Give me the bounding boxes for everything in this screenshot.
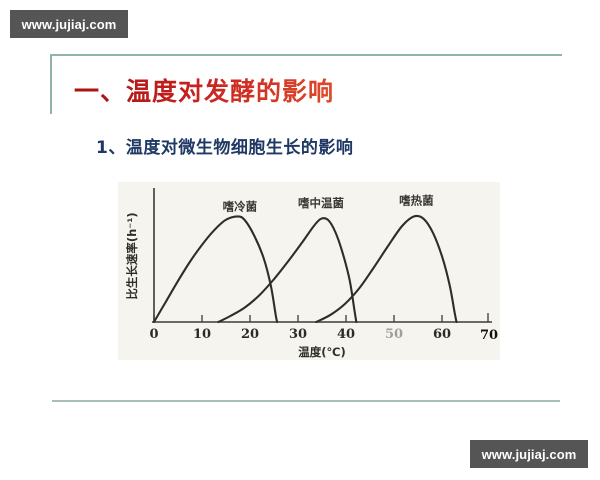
curve-thermophile: [316, 216, 456, 322]
xtick-70: 70: [480, 328, 498, 343]
slide-title: 一、温度对发酵的影响: [74, 72, 334, 108]
growth-rate-chart: 0 10 20 30 40 50 60 70 嗜冷菌 嗜中温菌 嗜热菌 温度(℃…: [118, 182, 500, 360]
xtick-60: 60: [433, 327, 451, 342]
xtick-20: 20: [241, 327, 259, 342]
curve-mesophile: [218, 218, 356, 322]
curve-label-mesophile: 嗜中温菌: [298, 196, 344, 210]
chart-svg: 0 10 20 30 40 50 60 70 嗜冷菌 嗜中温菌 嗜热菌 温度(℃…: [118, 182, 500, 360]
slide-rule-bottom: [52, 400, 560, 402]
x-axis-title: 温度(℃): [298, 345, 345, 359]
watermark-bottom: www.jujiaj.com: [470, 440, 588, 468]
y-axis-title: 比生长速率(h⁻¹): [125, 212, 139, 299]
xtick-30: 30: [289, 327, 307, 342]
slide-rule-left: [50, 54, 52, 114]
slide-rule-top: [50, 54, 562, 56]
xtick-10: 10: [193, 327, 211, 342]
curve-label-psychrophile: 嗜冷菌: [223, 199, 258, 213]
slide-subtitle: 1、温度对微生物细胞生长的影响: [96, 133, 353, 158]
curve-psychrophile: [154, 216, 277, 322]
watermark-top: www.jujiaj.com: [10, 10, 128, 38]
xtick-0: 0: [149, 327, 158, 342]
xtick-40: 40: [337, 327, 355, 342]
x-axis-tick-labels: 0 10 20 30 40 50 60 70: [149, 327, 498, 343]
xtick-50: 50: [385, 327, 403, 342]
curve-label-thermophile: 嗜热菌: [399, 193, 434, 207]
